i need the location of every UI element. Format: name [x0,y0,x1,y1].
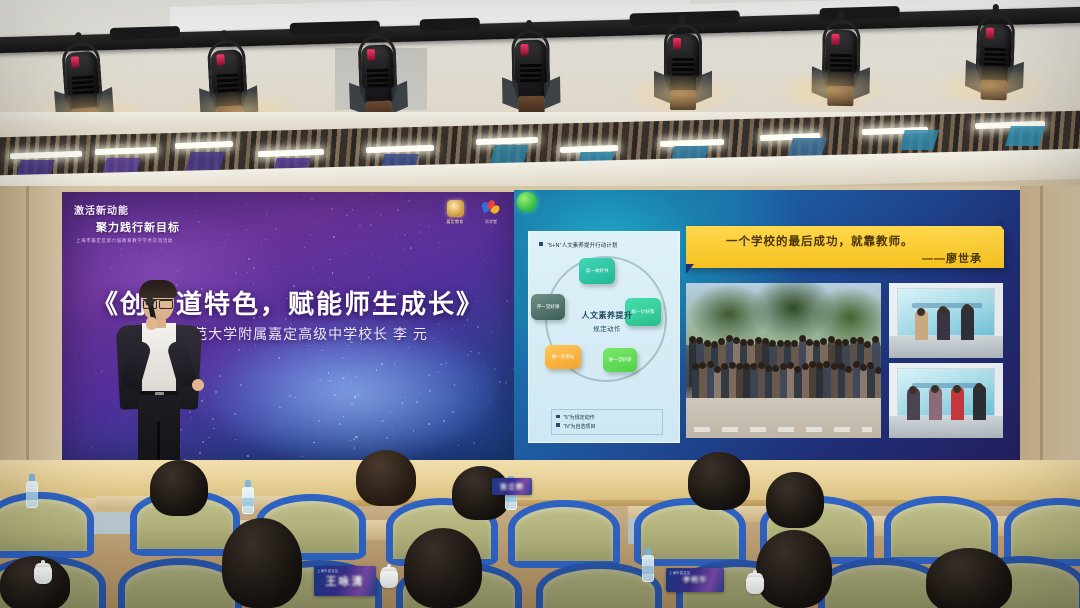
learning-brand-mark [482,200,500,217]
jiading-education-caption: 嘉定教育 [442,219,468,225]
learning-brand-logo: 乐学堂 [478,200,504,225]
ceiling-panel-teal-5 [899,130,939,150]
kv-line1: 激活新动能 [74,202,289,217]
kv-headline-block: 激活新动能 聚力践行新目标 上海市嘉定区第六届教育教学学术交流活动 [74,202,289,244]
bullet-icon [539,242,543,246]
diagram-footnote-1: “5”为规定动作 [556,414,658,421]
wall-right-column [1020,186,1080,486]
jiading-education-logo: 嘉定教育 [442,200,468,225]
audience-nameplate: 上海市嘉定区 李明华 [666,568,724,592]
light-glow-4 [770,68,890,112]
diagram-node-4: 做一次讲坛 [545,345,581,369]
wall-seam-right [1040,186,1043,486]
right-projection-screen: “5+N”人文素养提升行动计划 读一本好书 献一计好策 讲一堂好课 做一次讲坛 … [514,190,1020,462]
bullet-icon [556,415,560,419]
tea-cup [378,566,406,594]
kv-logo-group: 嘉定教育 乐学堂 [442,200,504,225]
diagram-center-line1: 人文素养提升 [559,310,655,321]
diagram-heading-text: “5+N”人文素养提升行动计划 [547,243,618,249]
water-bottle [642,548,654,582]
water-bottle [26,474,38,508]
light-glow-5 [930,64,1050,108]
audience-member-head [222,518,302,608]
speaker-hair [139,280,177,298]
jiading-education-mark [447,200,464,217]
photo-person-head-d [975,383,983,391]
award-photo-top [889,283,1003,358]
audience-member-head [926,548,1012,608]
stage-spotlight-4 [507,28,555,125]
diagram-center-line2: 规定动作 [559,324,655,333]
audience-member-head [356,450,416,506]
tea-cup [32,562,62,592]
speaker-hand-right [192,379,204,391]
photo-person-head-c [963,304,971,312]
slide-corner-dot-icon [517,192,537,212]
diagram-footnotes: “5”为规定动作 “N”为自选项目 [551,409,663,436]
photo-person-head-a [917,308,925,316]
nameplate-name: 李明华 [683,575,707,585]
kv-line2: 聚力践行新目标 [96,219,289,235]
quote-text: 一个学校的最后成功，就靠教师。 [726,233,914,249]
photo-person-head-b [939,306,947,314]
audience-member-head [150,460,208,516]
photo-person-head-c [953,385,961,393]
learning-brand-caption: 乐学堂 [478,219,504,225]
group-photo-faculty [686,283,881,438]
audience-chair [0,492,94,558]
tea-cup [744,572,770,598]
action-plan-diagram-card: “5+N”人文素养提升行动计划 读一本好书 献一计好策 讲一堂好课 做一次讲坛 … [528,231,680,443]
audience-chair [508,500,620,568]
diagram-node-3: 讲一堂好课 [603,348,637,372]
ceiling-panel-teal-6 [1005,126,1045,146]
speaker-hand-left [146,317,157,330]
photo-person-head-b [931,385,939,393]
quote-attribution: ——廖世承 [922,250,982,266]
diagram-center-label: 人文素养提升 规定动作 [559,310,655,333]
photo-person-head-a [909,386,917,394]
nameplate-name: 王咏清 [326,573,365,589]
audience-nameplate: 张立群 [492,478,532,495]
audience-member-head [688,452,750,510]
photo-ground [686,398,881,438]
speaker-presenter [112,283,208,490]
diagram-heading: “5+N”人文素养提升行动计划 [539,241,618,249]
nameplate-name: 张立群 [500,482,524,492]
photo-crowd [686,335,881,401]
diagram-node-1: 读一本好书 [579,258,615,284]
award-photo-bottom [889,363,1003,438]
diagram-footnote-2: “N”为自选项目 [556,423,658,430]
quote-banner: 一个学校的最后成功，就靠教师。 ——廖世承 [686,226,1004,268]
audience-member-head [766,472,824,528]
light-glow-3 [620,72,740,116]
audience-nameplate: 上海市嘉定区 王咏清 [314,566,376,596]
conference-hall-photo: 激活新动能 聚力践行新目标 上海市嘉定区第六届教育教学学术交流活动 嘉定教育 乐… [0,0,1080,608]
bullet-icon [556,423,560,427]
wall-left-column [0,186,64,486]
kv-line3: 上海市嘉定区第六届教育教学学术交流活动 [76,238,289,244]
wall-seam-left [26,186,29,486]
audience-member-head [404,528,482,608]
water-bottle [242,480,254,514]
